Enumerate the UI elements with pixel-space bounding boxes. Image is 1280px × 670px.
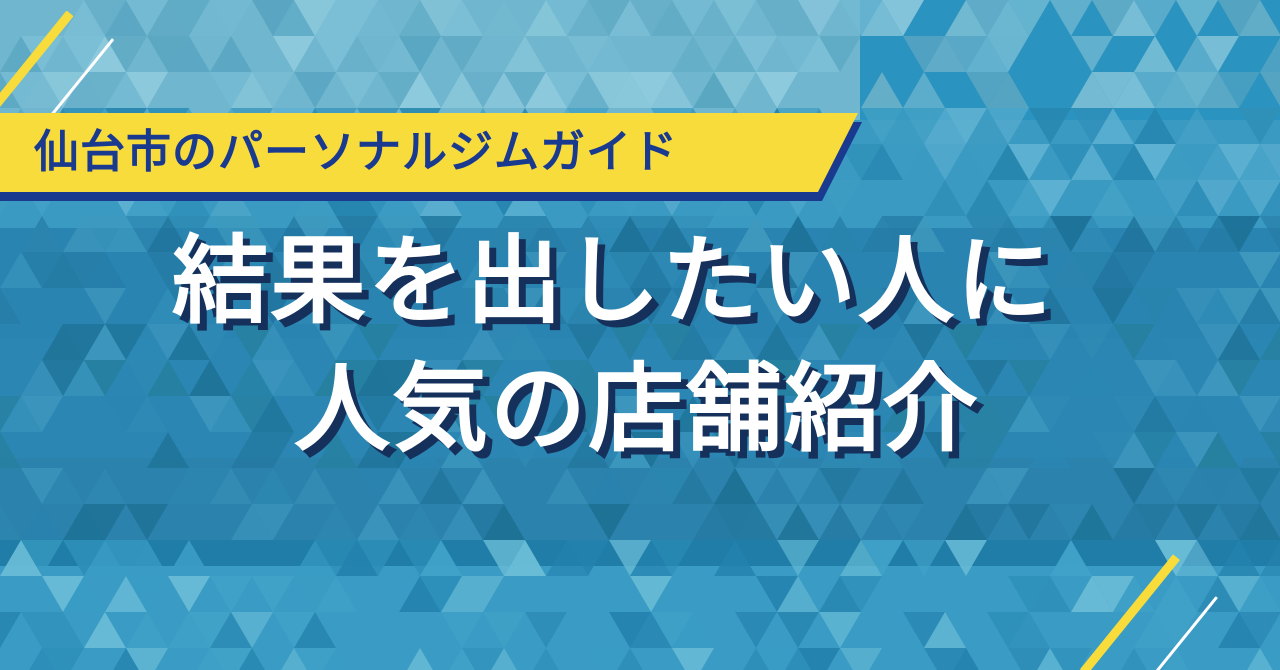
- ribbon-shape: 仙台市のパーソナルジムガイド: [0, 113, 858, 192]
- ribbon-label: 仙台市のパーソナルジムガイド: [34, 129, 678, 174]
- ribbon-banner: 仙台市のパーソナルジムガイド: [0, 113, 880, 205]
- headline-line-1: 結果を出したい人に: [172, 218, 1280, 346]
- headline: 結果を出したい人に 人気の店舗紹介: [0, 218, 1280, 474]
- band-top-right: [860, 0, 1280, 120]
- headline-line-2: 人気の店舗紹介: [294, 346, 1280, 474]
- band-bottom-divider: [0, 540, 1280, 566]
- promo-banner: 仙台市のパーソナルジムガイド 結果を出したい人に 人気の店舗紹介: [0, 0, 1280, 670]
